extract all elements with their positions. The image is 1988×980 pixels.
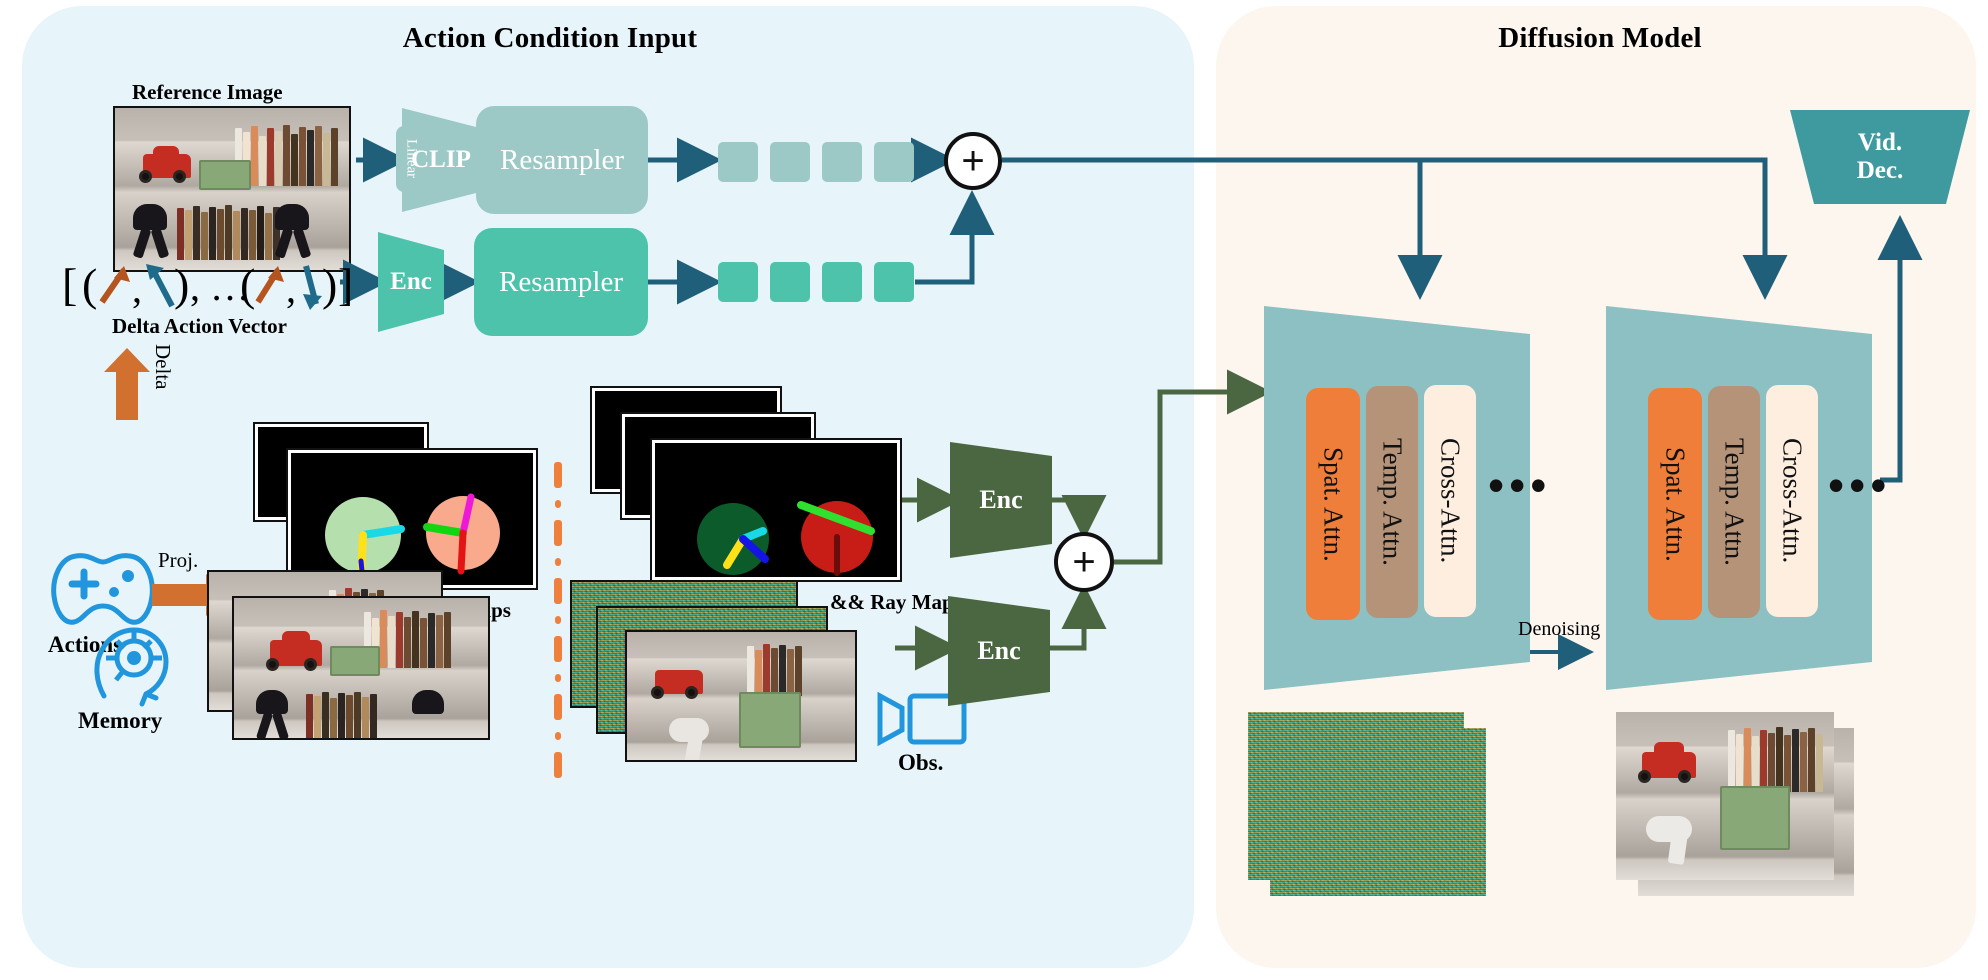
block-1-ellipsis: ••• (1488, 462, 1551, 508)
spatial-attention-1[interactable]: Spat. Attn. (1306, 388, 1360, 620)
video-decoder-line1: Vid. (1858, 129, 1902, 157)
noisy-output-frame-front (1248, 712, 1464, 880)
svg-text:[: [ (62, 259, 77, 310)
video-decoder-line2: Dec. (1857, 157, 1904, 185)
obs-frame-front (625, 630, 857, 762)
ray-map-frame-front (652, 440, 900, 580)
plus-symbol: + (1072, 542, 1095, 582)
cross-attention-2-label: Cross-Attn. (1777, 438, 1808, 563)
proj-label: Proj. (158, 548, 198, 573)
reference-image-label: Reference Image (132, 80, 283, 105)
action-encoder[interactable]: Enc (378, 232, 444, 332)
cross-attention-1-label: Cross-Attn. (1435, 438, 1466, 563)
delta-label: Delta (150, 344, 175, 389)
ray-maps-label: && Ray Maps (830, 590, 962, 615)
divider-dashdot-left (552, 462, 564, 782)
memory-frame-front (232, 596, 490, 740)
action-map-frame-front (288, 450, 536, 588)
resampler-action-label: Resampler (499, 266, 623, 299)
delta-action-vector-label: Delta Action Vector (112, 314, 287, 339)
maps-encoder[interactable]: Enc (950, 442, 1052, 558)
clip-label: CLIP (411, 146, 471, 174)
action-token (770, 262, 810, 302)
cross-attention-2[interactable]: Cross-Attn. (1766, 385, 1818, 617)
plus-symbol: + (961, 141, 984, 181)
image-token (770, 142, 810, 182)
panel-title-left: Action Condition Input (300, 22, 800, 55)
svg-text:]: ] (338, 259, 353, 310)
panel-title-right: Diffusion Model (1380, 22, 1820, 55)
image-token (874, 142, 914, 182)
brain-memory-icon (86, 610, 182, 704)
memory-label: Memory (78, 708, 162, 734)
action-encoder-label: Enc (390, 268, 432, 296)
cross-attention-1[interactable]: Cross-Attn. (1424, 385, 1476, 617)
resampler-image-label: Resampler (500, 144, 624, 177)
image-token (718, 142, 758, 182)
delta-action-vector-expression: [ ( , ) , … ( , ) ] (60, 248, 350, 318)
spatial-attention-2[interactable]: Spat. Attn. (1648, 388, 1702, 620)
maps-encoder-label: Enc (979, 485, 1022, 515)
obs-label: Obs. (898, 750, 943, 776)
temporal-attention-1-label: Temp. Attn. (1377, 438, 1408, 566)
image-token (822, 142, 862, 182)
sum-node-latent: + (1054, 532, 1114, 592)
svg-text:): ) (322, 259, 337, 310)
sum-node-condition: + (944, 132, 1002, 190)
resampler-action[interactable]: Resampler (474, 228, 648, 336)
video-decoder[interactable]: Vid. Dec. (1790, 110, 1970, 204)
spatial-attention-1-label: Spat. Attn. (1318, 447, 1349, 562)
svg-text:(: ( (240, 259, 255, 310)
action-token (718, 262, 758, 302)
svg-text:,: , (132, 266, 142, 311)
diagram-root: Action Condition Input Diffusion Model R… (0, 0, 1988, 980)
action-token (822, 262, 862, 302)
denoising-label: Denoising (1518, 618, 1600, 641)
delta-arrow (104, 348, 150, 420)
clip-encoder[interactable]: CLIP (402, 108, 480, 212)
temporal-attention-2-label: Temp. Attn. (1719, 438, 1750, 566)
svg-text:,: , (286, 266, 296, 311)
obs-encoder[interactable]: Enc (948, 596, 1050, 706)
spatial-attention-2-label: Spat. Attn. (1660, 447, 1691, 562)
svg-text:(: ( (82, 259, 97, 310)
temporal-attention-2[interactable]: Temp. Attn. (1708, 386, 1760, 618)
action-token (874, 262, 914, 302)
svg-text:): ) (174, 259, 189, 310)
temporal-attention-1[interactable]: Temp. Attn. (1366, 386, 1418, 618)
resampler-image[interactable]: Resampler (476, 106, 648, 214)
block-2-ellipsis: ••• (1828, 462, 1891, 508)
clean-output-frame-front (1616, 712, 1834, 880)
obs-encoder-label: Enc (977, 636, 1020, 666)
